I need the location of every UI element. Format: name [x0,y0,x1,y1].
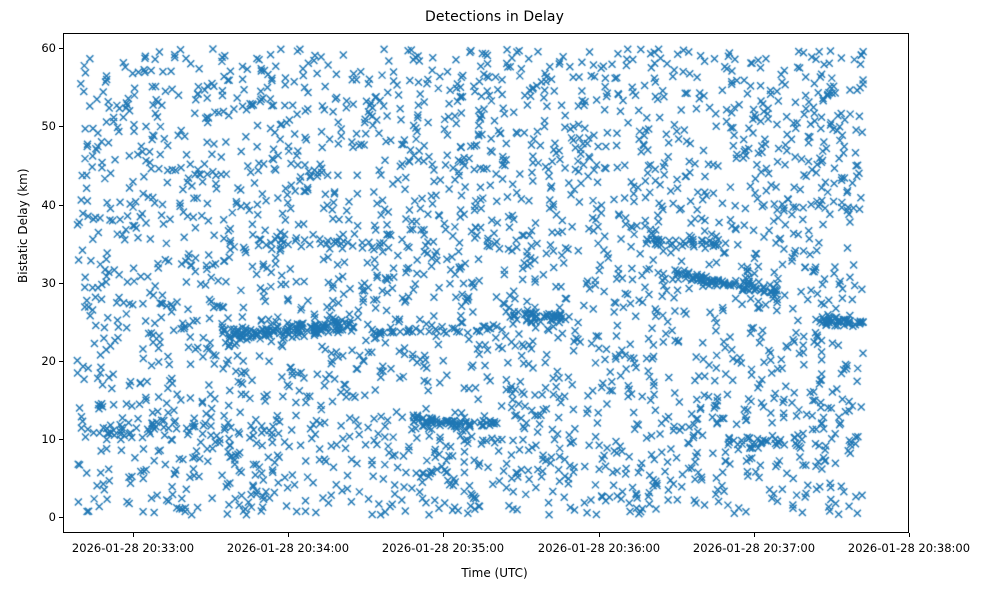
x-tick-mark [288,533,289,537]
plot-axes-area [63,33,909,533]
x-tick-label: 2026-01-28 20:36:00 [538,541,660,555]
x-tick-label: 2026-01-28 20:33:00 [72,541,194,555]
y-tick-label: 60 [16,41,56,55]
y-tick-label: 40 [16,198,56,212]
x-tick-label: 2026-01-28 20:34:00 [227,541,349,555]
y-tick-label: 20 [16,354,56,368]
x-axis-label: Time (UTC) [0,566,989,580]
y-tick-label: 0 [16,510,56,524]
y-tick-label: 50 [16,119,56,133]
x-tick-mark [599,533,600,537]
y-tick-label: 10 [16,432,56,446]
x-tick-label: 2026-01-28 20:38:00 [848,541,970,555]
matplotlib-figure: Detections in Delay Bistatic Delay (km) … [0,0,989,590]
x-tick-mark [443,533,444,537]
chart-title: Detections in Delay [0,9,989,25]
x-tick-label: 2026-01-28 20:37:00 [693,541,815,555]
x-tick-label: 2026-01-28 20:35:00 [382,541,504,555]
scatter-plot-canvas [64,34,909,533]
x-tick-mark [754,533,755,537]
x-tick-mark [133,533,134,537]
y-tick-label: 30 [16,276,56,290]
y-axis-label: Bistatic Delay (km) [16,168,30,283]
x-tick-mark [909,533,910,537]
